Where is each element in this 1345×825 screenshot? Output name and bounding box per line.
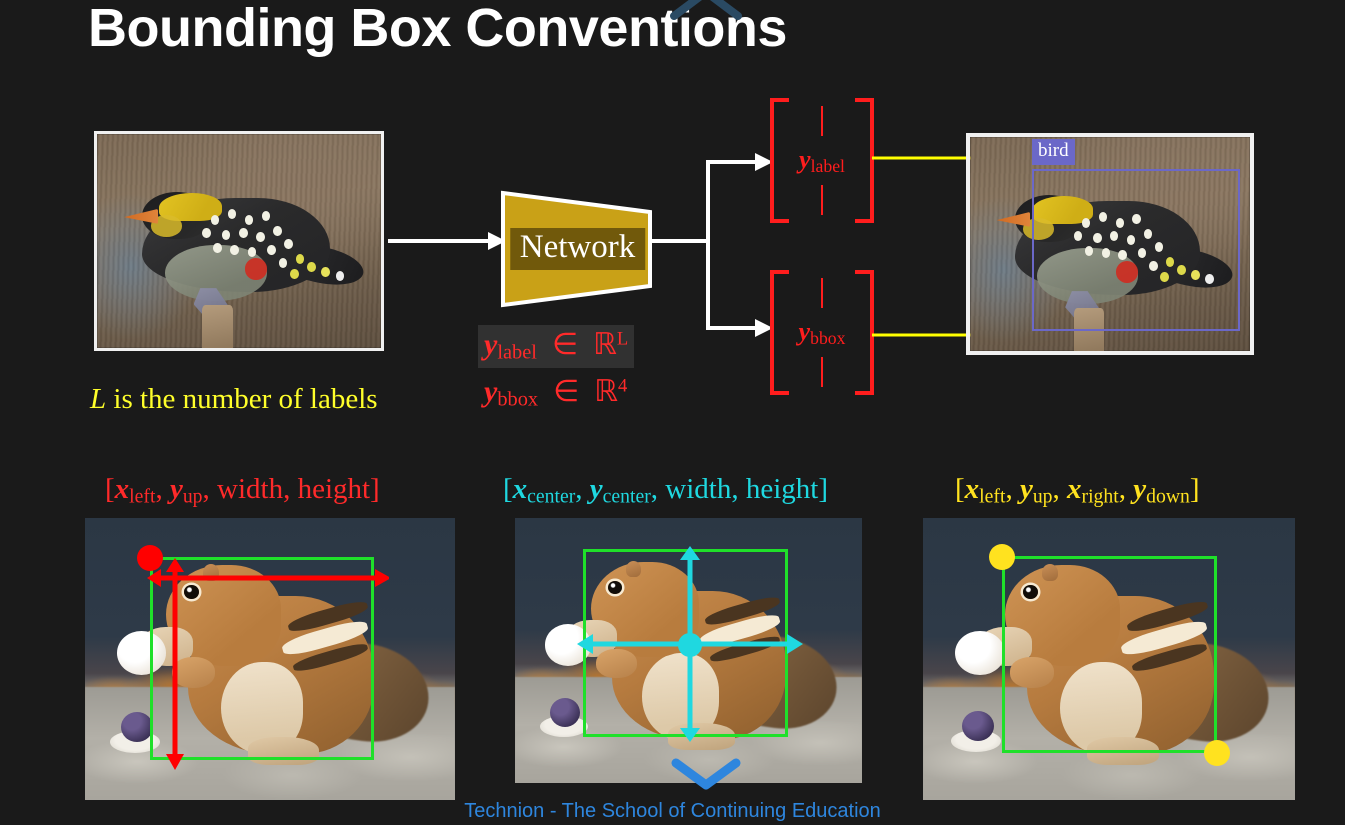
convention-formula-xyxy: [xleft, yup, xright, ydown] — [955, 473, 1200, 508]
convention-formula-xywh: [xleft, yup, width, height] — [105, 473, 380, 508]
chevron-up-icon[interactable] — [666, 0, 746, 22]
convention-image-xywh — [85, 518, 455, 800]
vector-dots-bottom — [821, 357, 823, 387]
footer-text: Technion - The School of Continuing Educ… — [0, 800, 1345, 823]
slide-root: Bounding Box Conventions — [0, 0, 1345, 825]
network-block[interactable]: Network — [500, 190, 655, 308]
input-bird-photo — [94, 131, 384, 351]
legend-L-definition: L is the number of labels — [90, 383, 378, 416]
vector-dots-top — [821, 106, 823, 136]
arrow-network-to-outputs — [650, 140, 780, 350]
output-label-ylabel: ylabel — [799, 145, 845, 177]
formula-ylabel-dim: ylabel ∈ ℝL — [478, 325, 634, 368]
vector-dots-top — [821, 278, 823, 308]
network-label: Network — [510, 228, 645, 270]
convention-formula-cxcywh: [xcenter, ycenter, width, height] — [503, 473, 828, 508]
output-label-ybbox: ybbox — [799, 317, 846, 349]
vector-bracket-bbox: ybbox — [770, 270, 874, 395]
arrow-input-to-network — [388, 228, 506, 254]
output-bird-photo: bird — [966, 133, 1254, 355]
chevron-down-icon[interactable] — [668, 756, 744, 792]
vector-bracket-label: ylabel — [770, 98, 874, 223]
convention-image-cxcywh — [515, 518, 862, 783]
convention-image-xyxy — [923, 518, 1295, 800]
vector-dots-bottom — [821, 185, 823, 215]
formula-ybbox-dim: ybbox ∈ ℝ4 — [484, 374, 627, 411]
